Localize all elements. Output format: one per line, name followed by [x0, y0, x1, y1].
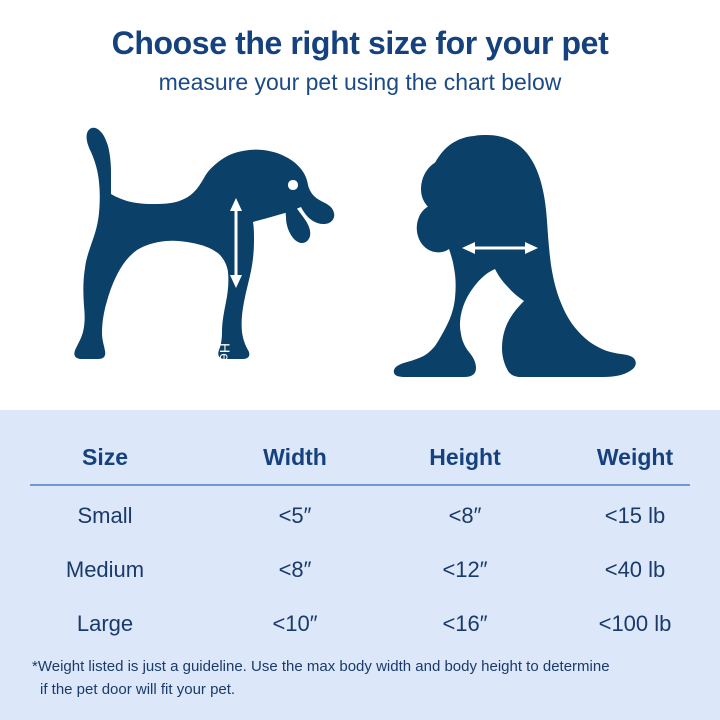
cell-weight: <100 lb	[550, 597, 720, 651]
cell-size: Small	[0, 489, 210, 543]
cell-width: <8″	[210, 543, 380, 597]
table-body: Small <5″ <8″ <15 lb Medium <8″ <12″ <40…	[0, 489, 720, 651]
cell-size: Large	[0, 597, 210, 651]
cell-weight: <40 lb	[550, 543, 720, 597]
cell-size: Medium	[0, 543, 210, 597]
size-chart-table: Size Width Height Weight Small <5″ <8″ <…	[0, 410, 720, 651]
cell-width: <10″	[210, 597, 380, 651]
standing-dog-silhouette-icon	[38, 118, 338, 378]
standing-dog-figure	[38, 118, 338, 378]
column-header-width: Width	[210, 410, 380, 489]
footnote: *Weight listed is just a guideline. Use …	[32, 655, 692, 702]
column-header-weight: Weight	[550, 410, 720, 489]
footnote-line-2: if the pet door will fit your pet.	[32, 678, 692, 701]
footnote-line-1: *Weight listed is just a guideline. Use …	[32, 655, 692, 678]
column-header-height: Height	[380, 410, 550, 489]
table-row: Large <10″ <16″ <100 lb	[0, 597, 720, 651]
page-title: Choose the right size for your pet	[0, 0, 720, 62]
cell-height: <8″	[380, 489, 550, 543]
cell-height: <16″	[380, 597, 550, 651]
table-header-divider	[30, 484, 690, 486]
illustration-band: Height Width	[0, 118, 720, 410]
table-header-row: Size Width Height Weight	[0, 410, 720, 489]
header: Choose the right size for your pet measu…	[0, 0, 720, 95]
cell-weight: <15 lb	[550, 489, 720, 543]
table-row: Medium <8″ <12″ <40 lb	[0, 543, 720, 597]
page-subtitle: measure your pet using the chart below	[0, 62, 720, 95]
cell-height: <12″	[380, 543, 550, 597]
pet-size-guide-page: Choose the right size for your pet measu…	[0, 0, 720, 720]
sitting-dog-figure	[388, 118, 658, 378]
sitting-dog-silhouette-icon	[388, 118, 658, 378]
size-chart-panel: Size Width Height Weight Small <5″ <8″ <…	[0, 410, 720, 720]
column-header-size: Size	[0, 410, 210, 489]
cell-width: <5″	[210, 489, 380, 543]
table-row: Small <5″ <8″ <15 lb	[0, 489, 720, 543]
height-measure-label: Height	[217, 343, 233, 385]
table-header: Size Width Height Weight	[0, 410, 720, 489]
